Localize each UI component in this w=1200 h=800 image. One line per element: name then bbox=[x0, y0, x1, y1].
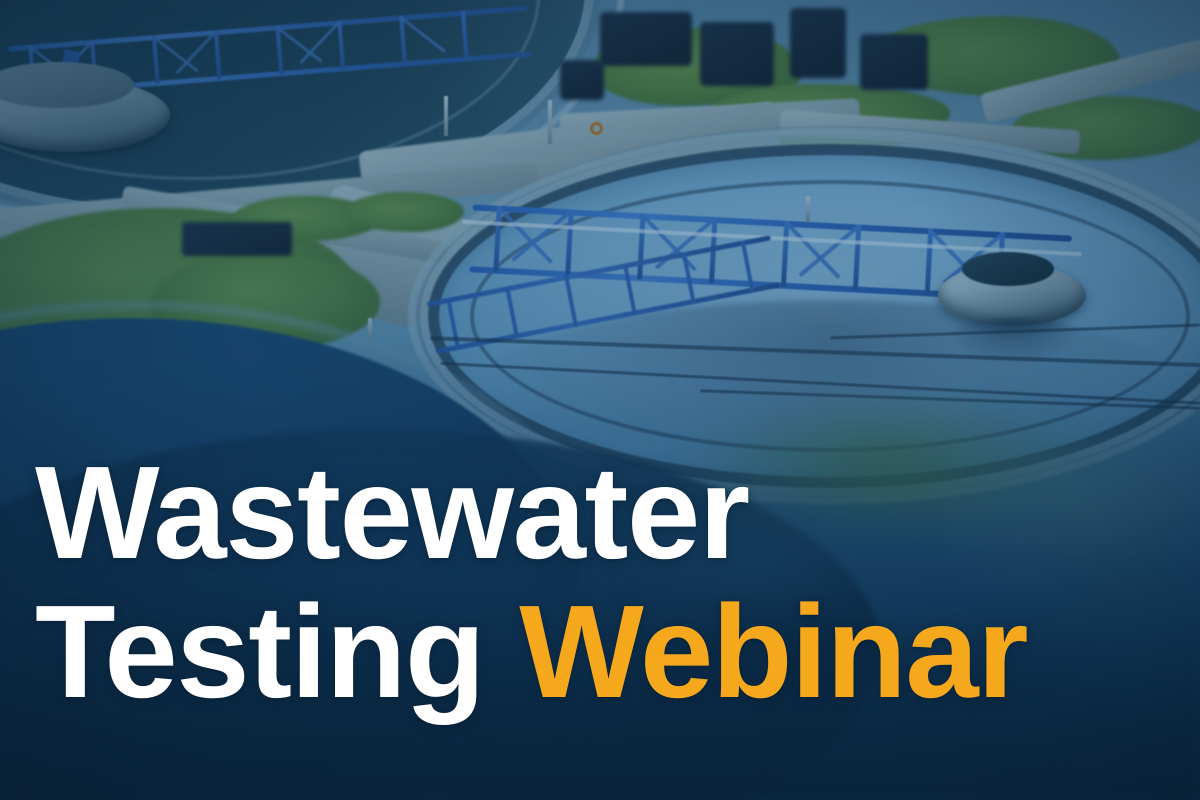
headline-word-webinar: Webinar bbox=[519, 578, 1027, 725]
headline-word-wastewater: Wastewater bbox=[35, 439, 749, 586]
headline-space bbox=[484, 578, 519, 725]
headline-line-2: Testing Webinar bbox=[35, 587, 1175, 716]
headline-block: Wastewater Testing Webinar bbox=[35, 448, 1175, 717]
headline-line-1: Wastewater bbox=[35, 448, 1175, 577]
headline-word-testing: Testing bbox=[35, 578, 484, 725]
webinar-banner: Wastewater Testing Webinar bbox=[0, 0, 1200, 800]
